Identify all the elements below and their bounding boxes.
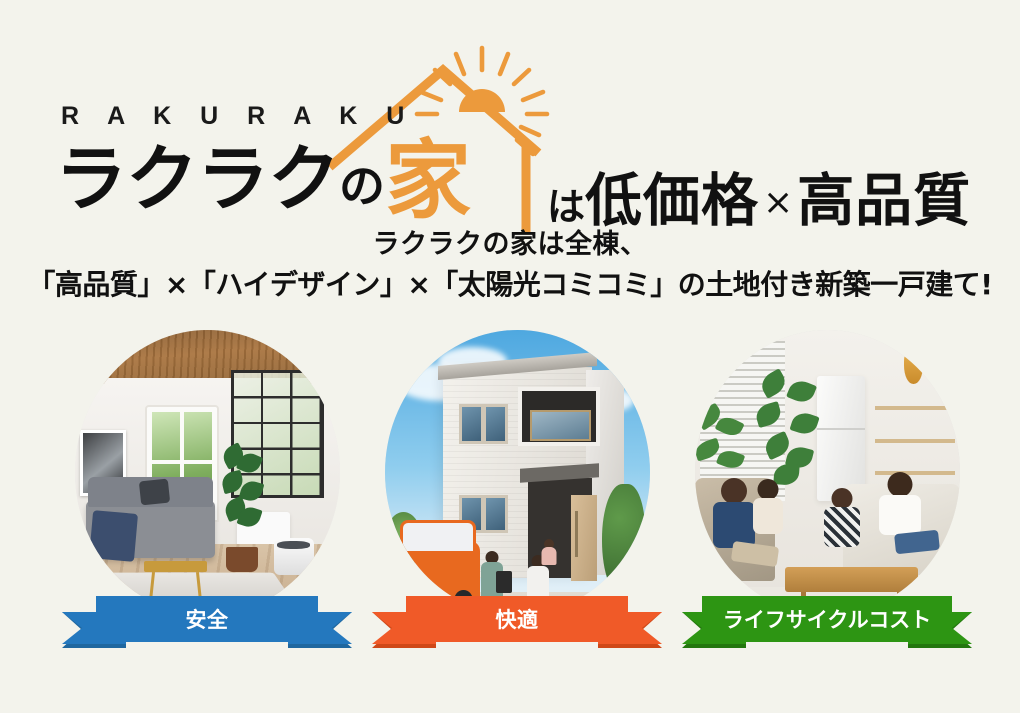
headline-particle: は <box>547 185 585 229</box>
headline-tagline: は低価格×高品質 <box>547 173 971 230</box>
feature-cards: 安全 <box>0 330 1020 675</box>
headline-separator: × <box>759 182 797 223</box>
low-table <box>785 567 918 593</box>
brand-latin-name: R A K U R A K U <box>61 104 415 129</box>
feature-card-lifecycle-cost[interactable]: ライフサイクルコスト <box>672 330 982 675</box>
ribbon-banner: ライフサイクルコスト <box>672 596 982 656</box>
person-daughter <box>822 488 862 552</box>
family-living-room-photo <box>695 330 960 615</box>
plant-pot <box>226 547 258 573</box>
shrub <box>602 484 644 598</box>
car-headlight <box>395 562 406 575</box>
brand-raku-text: ラクラク <box>55 137 339 221</box>
orange-car <box>393 541 480 604</box>
person-mother <box>877 472 923 552</box>
house-exterior-family-photo <box>385 330 650 615</box>
headline-part2: 高品質 <box>797 168 971 234</box>
subtitle-line-1: ラクラクの家は全棟、 <box>0 228 1020 263</box>
front-door <box>571 495 598 581</box>
pendant-lamp <box>904 347 923 384</box>
potted-plant <box>221 441 266 561</box>
ribbon-banner: 安全 <box>52 596 362 656</box>
balcony <box>518 387 600 446</box>
subtitle-block: ラクラクの家は全棟、 「高品質」×「ハイデザイン」×「太陽光コミコミ」の土地付き… <box>0 228 1020 303</box>
ribbon-banner: 快適 <box>362 596 672 656</box>
person-son <box>751 479 785 541</box>
window <box>459 404 484 444</box>
subtitle-line-2: 「高品質」×「ハイデザイン」×「太陽光コミコミ」の土地付き新築一戸建て! <box>0 267 1020 303</box>
brand-ie-text: 家 <box>385 131 471 231</box>
window <box>483 495 508 532</box>
brand-logo: R A K U R A K U ラクラクの家 は低価格×高品質 <box>55 36 975 216</box>
brand-japanese-name: ラクラクの家 <box>55 132 471 218</box>
brand-no-text: の <box>339 159 385 213</box>
headline-part1: 低価格 <box>585 168 759 234</box>
air-purifier <box>274 538 314 575</box>
person-child <box>539 539 559 569</box>
living-room-interior-photo <box>75 330 340 615</box>
coffee-table <box>144 561 208 572</box>
window <box>483 404 508 444</box>
feature-card-safety[interactable]: 安全 <box>52 330 362 675</box>
hero-section: R A K U R A K U ラクラクの家 は低価格×高品質 ラクラクの家は全… <box>0 0 1020 320</box>
throw-blanket <box>89 511 138 563</box>
feature-card-comfort[interactable]: 快適 <box>362 330 672 675</box>
